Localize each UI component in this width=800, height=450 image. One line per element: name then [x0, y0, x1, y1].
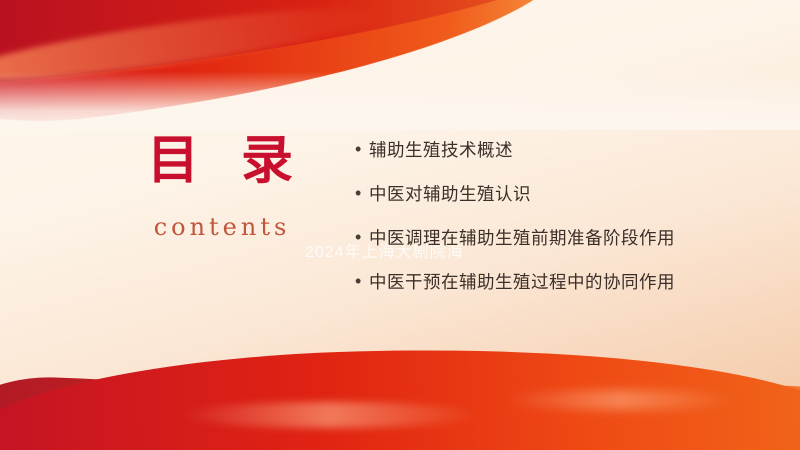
list-item-label: 中医调理在辅助生殖前期准备阶段作用: [369, 224, 735, 254]
page-subtitle: contents: [100, 213, 340, 241]
page-title: 目 录: [100, 128, 340, 193]
table-of-contents: • 辅助生殖技术概述 • 中医对辅助生殖认识 • 中医调理在辅助生殖前期准备阶段…: [355, 136, 735, 312]
bullet-icon: •: [355, 136, 369, 162]
list-item[interactable]: • 中医干预在辅助生殖过程中的协同作用: [355, 268, 735, 298]
bullet-icon: •: [355, 180, 369, 206]
slide-canvas: 目 录 contents 2024年上海大剧院海 • 辅助生殖技术概述 • 中医…: [0, 0, 800, 450]
list-item[interactable]: • 中医调理在辅助生殖前期准备阶段作用: [355, 224, 735, 254]
bullet-icon: •: [355, 224, 369, 250]
list-item-label: 辅助生殖技术概述: [369, 136, 735, 166]
list-item[interactable]: • 中医对辅助生殖认识: [355, 180, 735, 210]
list-item[interactable]: • 辅助生殖技术概述: [355, 136, 735, 166]
title-block: 目 录 contents: [100, 128, 340, 241]
bottom-wave-highlight-right: [500, 390, 740, 410]
bullet-icon: •: [355, 268, 369, 294]
bottom-wave-highlight: [180, 402, 480, 428]
list-item-label: 中医对辅助生殖认识: [369, 180, 735, 210]
list-item-label: 中医干预在辅助生殖过程中的协同作用: [369, 268, 735, 298]
